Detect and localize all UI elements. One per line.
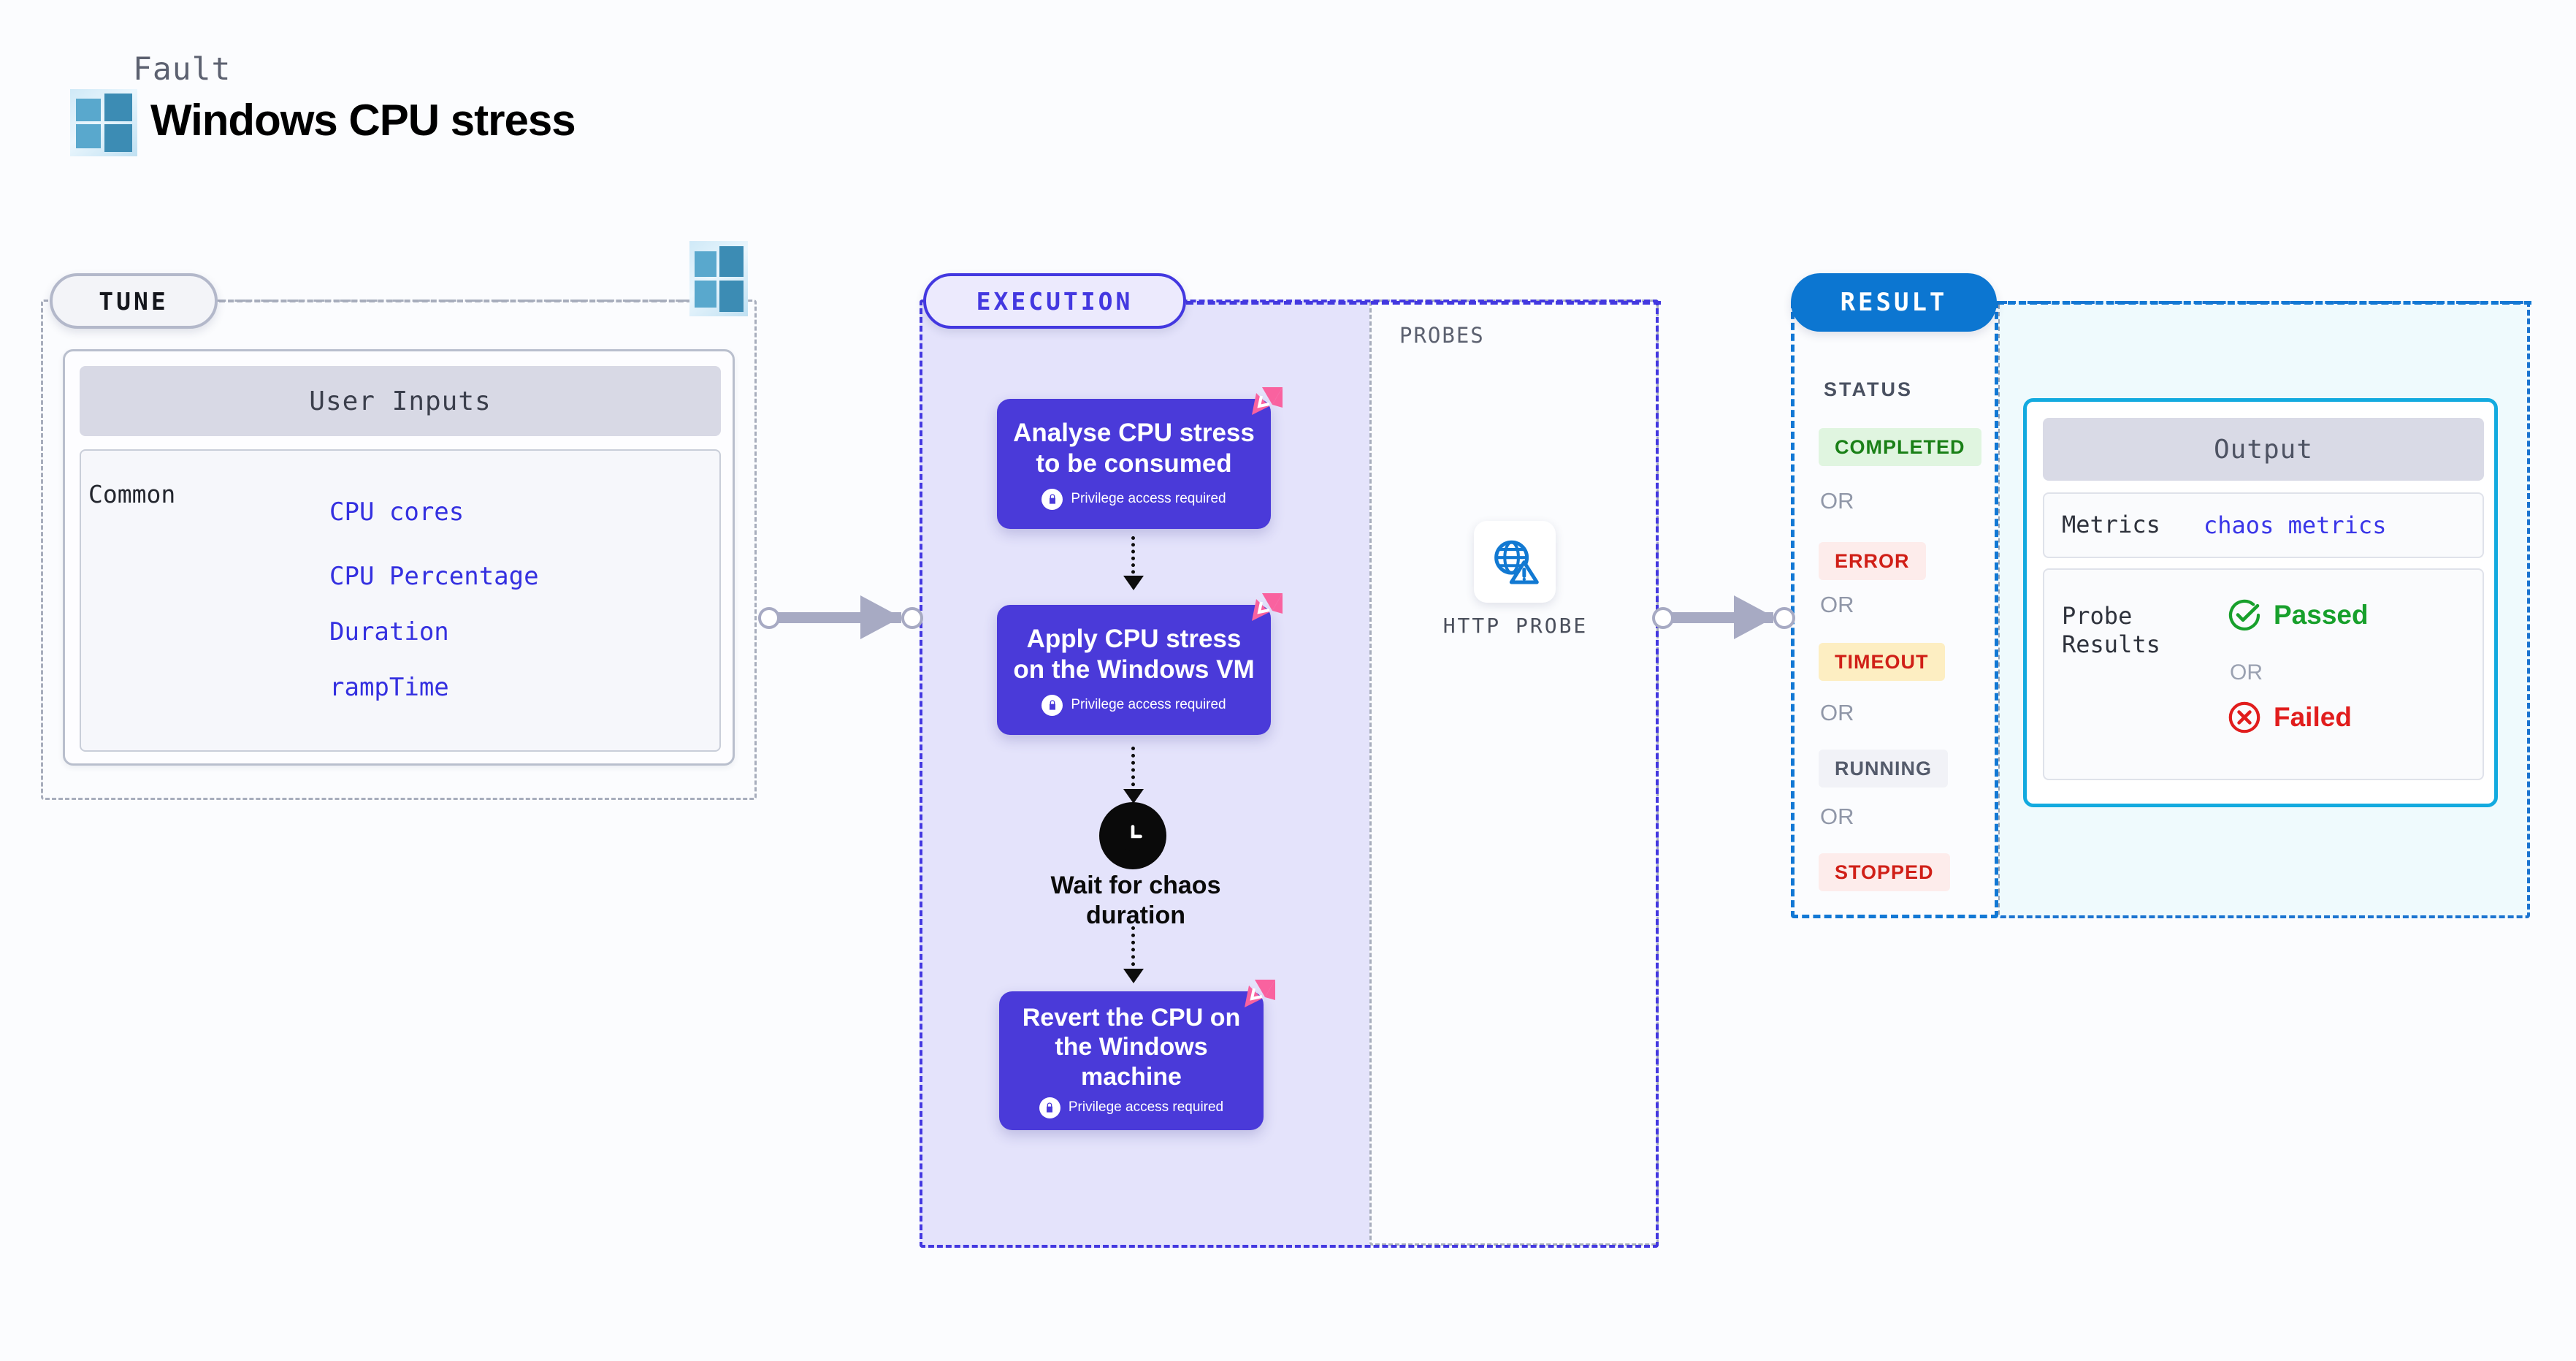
failed-label: Failed: [2274, 702, 2352, 733]
connector-probes-to-result: [1652, 588, 1795, 647]
or-label: OR: [1820, 700, 1854, 726]
param-ramptime[interactable]: rampTime: [329, 673, 449, 702]
privilege-note: Privilege access required: [1042, 695, 1226, 716]
connector-tune-to-execution: [758, 588, 923, 647]
flow-arrow: [1131, 926, 1136, 980]
flow-arrow: [1131, 747, 1136, 801]
x-circle-icon: [2227, 700, 2262, 735]
lock-icon: [1039, 1097, 1060, 1118]
fault-kicker: Fault: [133, 51, 231, 88]
metrics-value[interactable]: chaos metrics: [2204, 511, 2386, 539]
privilege-note-text: Privilege access required: [1069, 1099, 1223, 1116]
execution-card-title: Revert the CPU on the Windows machine: [999, 1003, 1264, 1091]
execution-pill[interactable]: EXECUTION: [923, 273, 1186, 329]
metrics-key: Metrics: [2062, 511, 2160, 539]
lock-icon: [1042, 489, 1063, 510]
page-title: Windows CPU stress: [150, 95, 576, 145]
output-panel: Output Metrics chaos metrics ProbeResult…: [2023, 398, 2498, 807]
status-badge: COMPLETED: [1819, 428, 1981, 466]
passed-label: Passed: [2274, 600, 2369, 630]
execution-card[interactable]: Revert the CPU on the Windows machine Pr…: [999, 991, 1264, 1130]
globe-warning-icon[interactable]: [1474, 521, 1556, 603]
wait-for-chaos-label: Wait for chaos duration: [1019, 871, 1253, 931]
execution-card-title: Analyse CPU stress to be consumed: [997, 418, 1271, 479]
or-label: OR: [1820, 804, 1854, 830]
windows-logo-icon: [689, 241, 748, 316]
execution-leader-line: [1186, 301, 1661, 305]
or-label: OR: [1820, 488, 1854, 514]
output-header: Output: [2043, 418, 2484, 481]
litmus-chaos-icon: [1237, 592, 1284, 638]
execution-card[interactable]: Analyse CPU stress to be consumed Privil…: [997, 399, 1271, 529]
page-header: Fault Windows CPU stress: [70, 51, 727, 153]
or-label: OR: [2230, 660, 2263, 685]
clock-icon: [1099, 802, 1166, 869]
probe-results-row: ProbeResults Passed OR Failed: [2043, 568, 2484, 780]
litmus-chaos-icon: [1230, 978, 1277, 1025]
tune-leader-line: [219, 300, 701, 302]
execution-card[interactable]: Apply CPU stress on the Windows VM Privi…: [997, 605, 1271, 735]
windows-logo-icon: [70, 89, 137, 156]
result-pill[interactable]: RESULT: [1791, 273, 1997, 332]
check-circle-icon: [2227, 598, 2262, 633]
status-badge: ERROR: [1819, 542, 1926, 580]
probe-results-key: ProbeResults: [2062, 602, 2160, 659]
privilege-note-text: Privilege access required: [1071, 491, 1226, 507]
probes-title: PROBES: [1399, 323, 1485, 348]
status-title: STATUS: [1824, 378, 1913, 401]
privilege-note: Privilege access required: [1039, 1097, 1223, 1118]
tune-pill[interactable]: TUNE: [50, 273, 218, 329]
diagram-canvas: Fault Windows CPU stress TUNE EXECUTION …: [0, 0, 2576, 1361]
litmus-chaos-icon: [1237, 386, 1284, 432]
status-badge: STOPPED: [1819, 853, 1950, 891]
or-label: OR: [1820, 592, 1854, 618]
user-inputs-header: User Inputs: [80, 366, 721, 436]
lock-icon: [1042, 695, 1063, 716]
flow-arrow: [1131, 536, 1136, 587]
param-duration[interactable]: Duration: [329, 617, 449, 647]
execution-card-title: Apply CPU stress on the Windows VM: [997, 624, 1271, 685]
probe-label: HTTP PROBE: [1410, 614, 1621, 638]
tune-group-label: Common: [88, 480, 175, 508]
param-cpu-percentage[interactable]: CPU Percentage: [329, 562, 539, 591]
probe-result-passed: Passed: [2227, 598, 2369, 633]
user-inputs-card: User Inputs CPU cores CPU Percentage Dur…: [63, 349, 735, 766]
probe-result-failed: Failed: [2227, 700, 2352, 735]
status-badge: TIMEOUT: [1819, 643, 1945, 681]
privilege-note: Privilege access required: [1042, 489, 1226, 510]
result-leader-line: [1997, 301, 2531, 305]
metrics-row: Metrics chaos metrics: [2043, 492, 2484, 558]
param-cpu-cores[interactable]: CPU cores: [329, 497, 464, 527]
privilege-note-text: Privilege access required: [1071, 697, 1226, 713]
status-badge: RUNNING: [1819, 750, 1948, 788]
tune-params-box: CPU cores CPU Percentage Duration rampTi…: [80, 449, 721, 752]
